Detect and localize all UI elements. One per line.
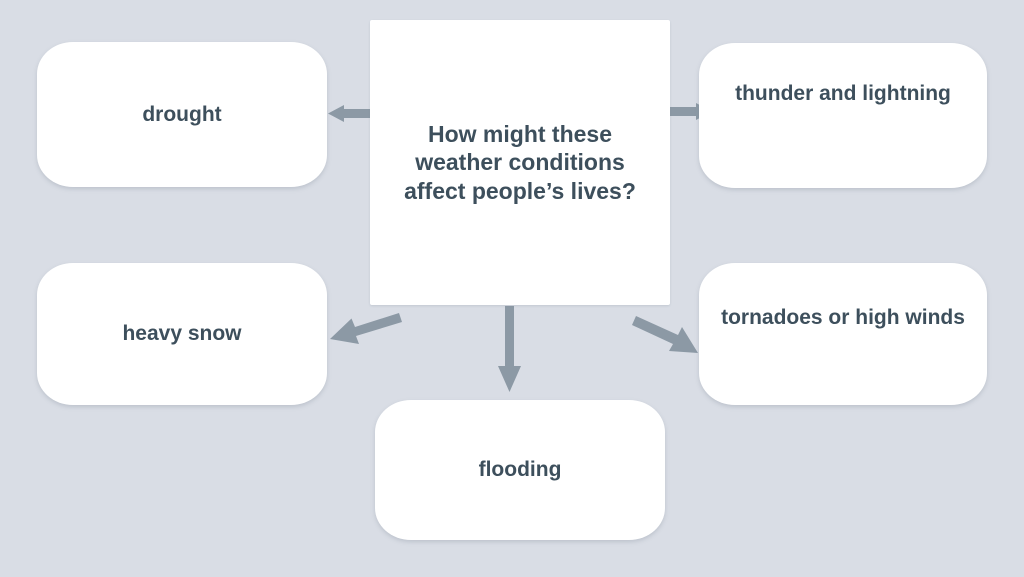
node-center-question[interactable]: How might these weather conditions affec… [370,20,670,305]
arrow-to-tornadoes [632,316,698,353]
diagram-canvas: How might these weather conditions affec… [0,0,1024,577]
node-thunder-and-lightning-label: thunder and lightning [735,81,951,108]
node-drought[interactable]: drought [37,42,327,187]
node-drought-label: drought [142,102,221,128]
node-tornadoes-or-high-winds[interactable]: tornadoes or high winds [699,263,987,405]
node-center-label: How might these weather conditions affec… [384,120,656,204]
node-tornadoes-or-high-winds-label: tornadoes or high winds [721,305,965,332]
node-heavy-snow[interactable]: heavy snow [37,263,327,405]
arrow-to-flooding [498,306,521,392]
node-flooding-label: flooding [479,457,562,483]
arrow-to-drought [328,105,372,122]
node-thunder-and-lightning[interactable]: thunder and lightning [699,43,987,188]
arrow-to-heavysnow [330,313,402,344]
node-heavy-snow-label: heavy snow [122,321,241,347]
node-flooding[interactable]: flooding [375,400,665,540]
